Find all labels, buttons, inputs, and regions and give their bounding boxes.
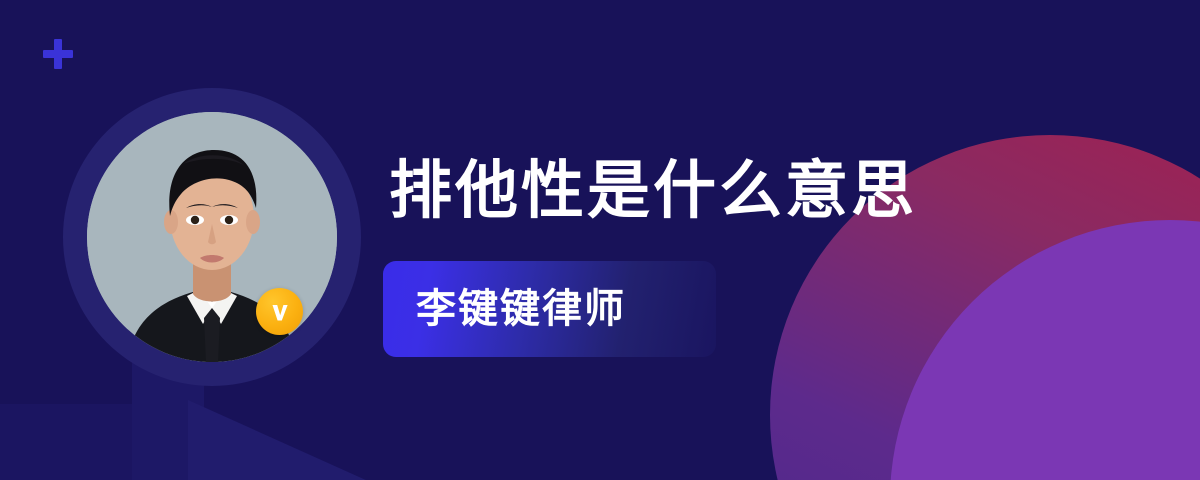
avatar-photo <box>87 112 337 362</box>
plus-icon-vertical-bar <box>54 39 62 69</box>
plus-icon <box>43 39 73 69</box>
decor-edge-block <box>0 404 148 480</box>
verified-v-badge-icon <box>256 288 303 335</box>
decor-triangle <box>188 400 388 480</box>
article-cover-banner: 排他性是什么意思 李键键律师 <box>0 0 1200 480</box>
avatar <box>63 88 361 386</box>
author-name-label: 李键键律师 <box>416 289 626 329</box>
author-name-pill: 李键键律师 <box>383 261 716 357</box>
page-title: 排他性是什么意思 <box>389 160 917 223</box>
